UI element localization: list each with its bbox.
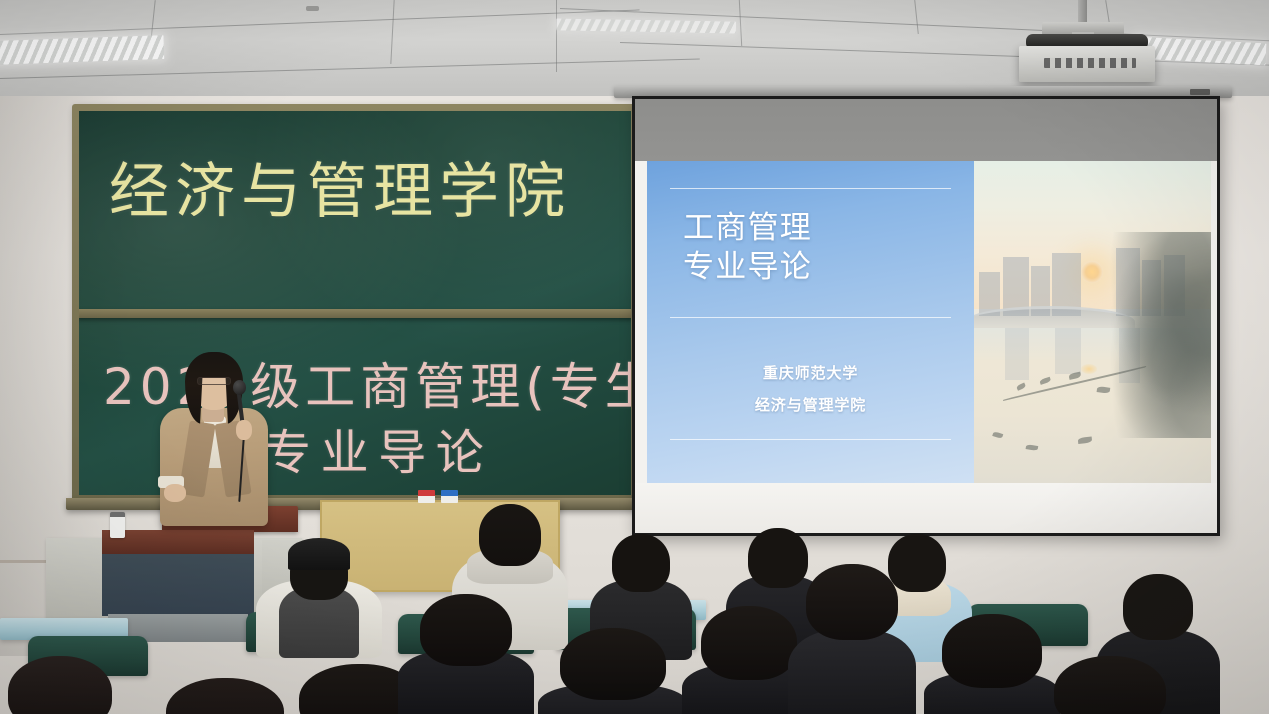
photo-tree-canopy — [1088, 232, 1211, 438]
presenter-coat — [160, 408, 268, 526]
student — [256, 536, 382, 656]
slide-separator-top — [670, 188, 951, 189]
student-head — [1123, 574, 1193, 640]
chalk-box-red — [418, 490, 435, 503]
student-head — [806, 564, 898, 640]
blackboard-line-3: 专业导论 — [263, 413, 493, 483]
student — [0, 656, 130, 714]
smoke-detector — [306, 6, 319, 11]
student — [788, 564, 916, 714]
water-bottle — [110, 512, 125, 538]
student-cap — [288, 538, 350, 570]
slide-title: 工商管理 专业导论 — [683, 209, 958, 287]
student-head — [479, 504, 541, 566]
blackboard-mid-rail — [79, 309, 631, 318]
recessed-fluorescent-light — [556, 18, 736, 33]
screen-rail-cap — [1190, 89, 1210, 95]
student-head — [166, 678, 284, 714]
student-head — [612, 534, 670, 592]
student-head — [560, 628, 666, 700]
student — [150, 678, 300, 714]
slide-photo — [974, 161, 1211, 483]
podium-side-panel-left — [46, 538, 108, 620]
student-head — [701, 606, 797, 680]
projection-screen: 工商管理 专业导论 重庆师范大学 经济与管理学院 — [632, 96, 1220, 536]
screen-blank-lower — [635, 483, 1217, 533]
presenter-lapel-left — [178, 420, 215, 497]
student-head — [420, 594, 512, 666]
student-head — [1054, 656, 1166, 714]
slide-title-line-2: 专业导论 — [683, 248, 958, 287]
slide-subtitle: 重庆师范大学 经济与管理学院 — [647, 357, 974, 422]
blackboard: 经济与管理学院 2022级工商管理(专生本) 专业导论 — [72, 104, 638, 502]
slide-subtitle-line-2: 经济与管理学院 — [647, 389, 974, 421]
presenter-glasses — [197, 377, 231, 385]
slide-subtitle-line-1: 重庆师范大学 — [647, 357, 974, 389]
student — [1040, 656, 1180, 714]
presenter-hand-left — [164, 484, 186, 502]
recessed-fluorescent-light — [0, 35, 164, 65]
blackboard-line-1: 经济与管理学院 — [109, 143, 571, 230]
slide-text-panel: 工商管理 专业导论 重庆师范大学 经济与管理学院 — [647, 161, 974, 483]
student-torso — [788, 630, 916, 714]
projector-ports — [1044, 58, 1136, 68]
student-head — [8, 656, 112, 714]
student — [538, 628, 688, 714]
podium-front — [102, 554, 254, 616]
student-head — [942, 614, 1042, 688]
slide-separator-bottom — [670, 439, 951, 440]
microphone-head — [233, 380, 246, 395]
projected-slide: 工商管理 专业导论 重庆师范大学 经济与管理学院 — [647, 161, 1211, 483]
screen-unlit-top — [635, 99, 1217, 161]
classroom-photo: 经济与管理学院 2022级工商管理(专生本) 专业导论 工商管理 专业导论 重庆… — [0, 0, 1269, 714]
slide-title-line-1: 工商管理 — [683, 209, 958, 248]
presenter-hand-right — [236, 420, 252, 440]
student — [398, 594, 534, 714]
slide-separator-mid — [670, 317, 951, 318]
